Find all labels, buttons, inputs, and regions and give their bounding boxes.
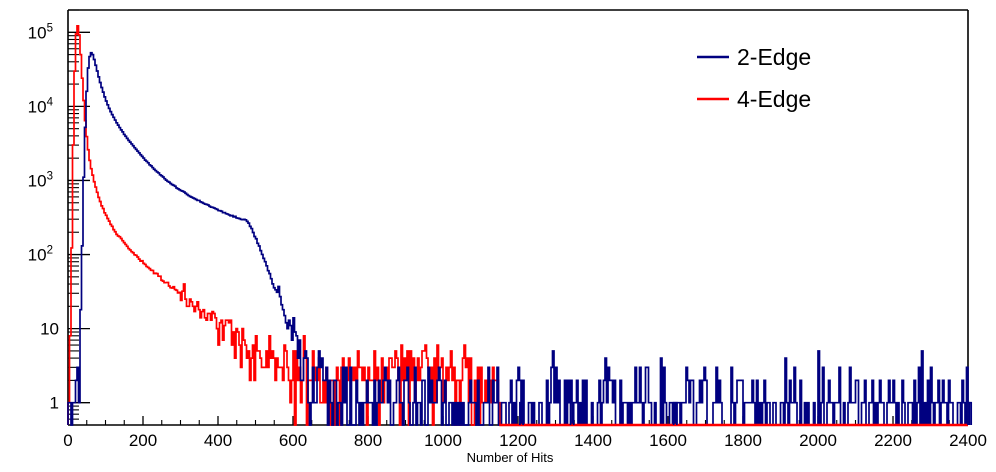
series-2-edge	[68, 53, 970, 425]
y-tick-label: 104	[28, 96, 54, 116]
legend-label-2-edge: 2-Edge	[737, 44, 811, 70]
x-tick-label: 2200	[874, 431, 912, 450]
series-4-edge	[68, 26, 500, 425]
y-tick-label: 105	[28, 22, 53, 42]
x-tick-label: 2000	[799, 431, 837, 450]
chart-root: 0200400600800100012001400160018002000220…	[0, 0, 996, 472]
x-tick-label: 1200	[499, 431, 537, 450]
x-tick-label: 200	[129, 431, 157, 450]
y-tick-label: 102	[28, 245, 53, 265]
y-tick-label: 103	[28, 170, 53, 190]
x-tick-label: 400	[204, 431, 232, 450]
x-tick-label: 1600	[649, 431, 687, 450]
legend-label-4-edge: 4-Edge	[737, 86, 811, 112]
y-tick-label: 10	[40, 320, 59, 339]
x-tick-label: 2400	[949, 431, 987, 450]
x-tick-label: 1800	[724, 431, 762, 450]
histogram-plot: 0200400600800100012001400160018002000220…	[0, 0, 996, 472]
x-tick-label: 0	[63, 431, 72, 450]
x-tick-label: 1000	[424, 431, 462, 450]
x-tick-label: 600	[279, 431, 307, 450]
y-tick-label: 1	[50, 394, 59, 413]
x-tick-label: 1400	[574, 431, 612, 450]
x-tick-label: 800	[354, 431, 382, 450]
x-axis-title: Number of Hits	[467, 450, 554, 465]
